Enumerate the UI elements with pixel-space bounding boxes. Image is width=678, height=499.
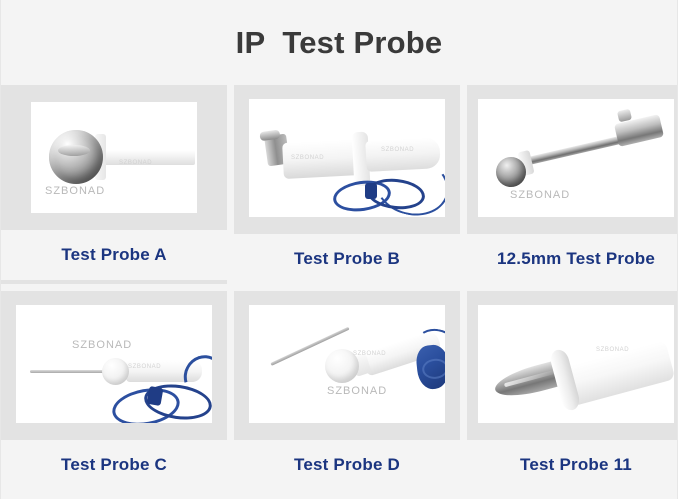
product-label-12-5mm-test-probe[interactable]: 12.5mm Test Probe <box>497 249 655 269</box>
probe-sphere-tip <box>496 157 526 187</box>
probe-cable-bundle <box>415 343 445 390</box>
product-label-test-probe-d[interactable]: Test Probe D <box>294 455 400 475</box>
probe-pin <box>30 370 110 373</box>
product-photo-test-probe-b[interactable]: SZBONAD SZBONAD <box>249 99 445 217</box>
probe-d-illustration <box>249 305 445 423</box>
probe-b-illustration <box>249 99 445 217</box>
product-label-band: Test Probe B <box>234 234 460 284</box>
probe-handle <box>565 340 674 406</box>
probe-stop-ball <box>325 349 359 383</box>
product-label-band: Test Probe D <box>234 440 460 490</box>
product-photo-test-probe-c[interactable]: SZBONAD SZBONAD <box>16 305 212 423</box>
product-card-test-probe-b[interactable]: SZBONAD SZBONAD Test Probe B <box>234 85 460 284</box>
product-label-band: 12.5mm Test Probe <box>467 234 678 284</box>
probe-stop-ball <box>102 358 129 385</box>
product-label-test-probe-c[interactable]: Test Probe C <box>61 455 167 475</box>
probe-a-illustration <box>31 102 197 213</box>
probe-finger-body <box>282 139 360 179</box>
product-label-band: Test Probe A <box>1 230 227 280</box>
product-label-test-probe-11[interactable]: Test Probe 11 <box>520 455 632 475</box>
product-photo-test-probe-11[interactable]: SZBONAD <box>478 305 674 423</box>
product-card-test-probe-d[interactable]: SZBONAD SZBONAD Test Probe D <box>234 291 460 490</box>
page-title: IP Test Probe <box>236 25 443 61</box>
product-label-band: Test Probe 11 <box>467 440 678 490</box>
probe-11-illustration <box>478 305 674 423</box>
product-label-test-probe-b[interactable]: Test Probe B <box>294 249 400 269</box>
product-gallery-page: IP Test Probe SZBONAD SZBONAD Test Probe… <box>0 0 678 499</box>
product-card-12-5mm-test-probe[interactable]: SZBONAD 12.5mm Test Probe <box>467 85 678 284</box>
page-header: IP Test Probe <box>1 0 677 85</box>
product-label-test-probe-a[interactable]: Test Probe A <box>61 245 166 265</box>
probe-c-illustration <box>16 305 212 423</box>
product-card-test-probe-a[interactable]: SZBONAD SZBONAD Test Probe A <box>1 85 227 284</box>
product-card-test-probe-11[interactable]: SZBONAD Test Probe 11 <box>467 291 678 490</box>
product-label-band: Test Probe C <box>1 440 227 490</box>
product-grid: SZBONAD SZBONAD Test Probe A <box>1 85 677 490</box>
product-photo-12-5mm-test-probe[interactable]: SZBONAD <box>478 99 674 217</box>
probe-12-5mm-illustration <box>478 99 674 217</box>
probe-cable-knot <box>365 183 377 199</box>
product-card-test-probe-c[interactable]: SZBONAD SZBONAD Test Probe C <box>1 291 227 490</box>
product-photo-test-probe-a[interactable]: SZBONAD SZBONAD <box>31 102 197 213</box>
probe-shaft <box>103 150 195 165</box>
probe-sphere-head <box>49 130 103 184</box>
product-photo-test-probe-d[interactable]: SZBONAD SZBONAD <box>249 305 445 423</box>
